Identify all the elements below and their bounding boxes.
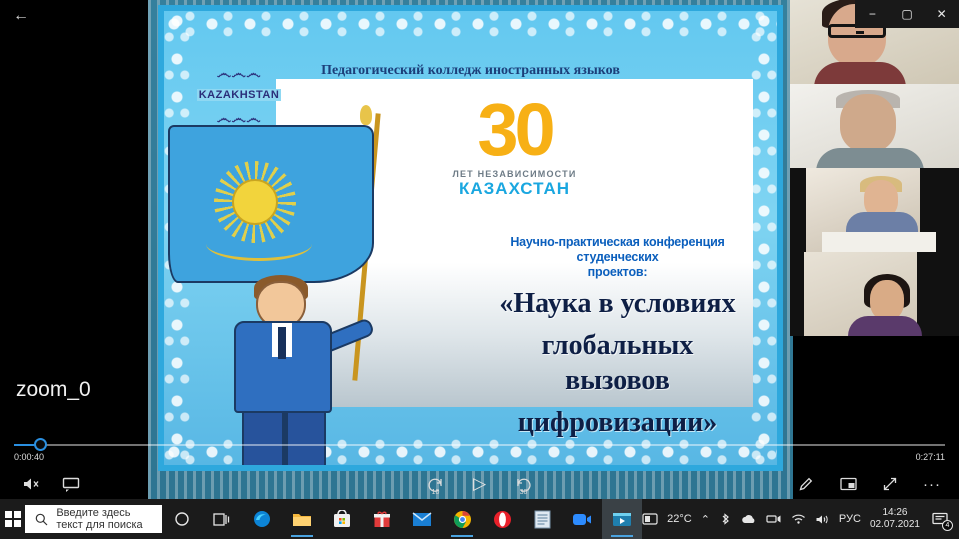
maximize-button[interactable]: ▢: [890, 0, 925, 28]
participant-2-face: [840, 94, 896, 152]
flag-sun: [232, 179, 278, 225]
participant-4-frame: [804, 252, 917, 336]
cortana-icon[interactable]: [162, 499, 202, 539]
forward-30-label: 30: [513, 489, 535, 496]
edge-icon[interactable]: [242, 499, 282, 539]
movies-tv-icon[interactable]: [602, 499, 642, 539]
participant-tile-2[interactable]: [790, 84, 959, 168]
participant-tile-3[interactable]: [790, 168, 959, 252]
temperature-label: 22°C: [667, 513, 692, 525]
conference-title-line-3: цифровизации»: [490, 406, 745, 440]
flag-pole-tip: [360, 105, 372, 125]
institution-heading: Педагогический колледж иностранных языко…: [164, 63, 777, 79]
rewind-10-label: 10: [425, 489, 447, 496]
bluetooth-icon[interactable]: [719, 512, 732, 526]
participant-3-frame: [806, 168, 920, 252]
mini-player-icon[interactable]: [837, 473, 859, 495]
more-options-button[interactable]: ···: [921, 473, 943, 495]
video-player-window: ← ෴෴෴ KAZAKHSTAN ෴෴෴ Педагогический колл…: [0, 0, 959, 539]
badge-label: KAZAKHSTAN: [197, 89, 282, 101]
seek-bar[interactable]: [0, 443, 959, 447]
word-document-icon[interactable]: [522, 499, 562, 539]
seek-track[interactable]: [14, 444, 945, 446]
system-tray: 22°C ⌃ РУС 14:26 02.07.2021: [642, 507, 959, 531]
gift-icon[interactable]: [362, 499, 402, 539]
taskbar-app-icons: [162, 499, 642, 539]
participant-tile-4[interactable]: [790, 252, 959, 336]
participant-1-body: [814, 62, 906, 84]
search-icon: [35, 513, 48, 526]
volume-icon[interactable]: [815, 513, 830, 526]
clock-date: 02.07.2021: [870, 519, 920, 531]
notification-badge: 4: [942, 520, 953, 531]
conference-title-line-1: «Наука в условиях: [490, 287, 745, 321]
weather-icon[interactable]: [642, 512, 658, 526]
flag-illustration: [168, 113, 398, 413]
logo-line-1: ЛЕТ НЕЗАВИСИМОСТИ: [425, 169, 605, 179]
language-indicator[interactable]: РУС: [839, 513, 861, 525]
search-placeholder: Введите здесь текст для поиска: [56, 507, 152, 531]
conference-title-block: Научно-практическая конференция студенче…: [490, 235, 745, 440]
close-button[interactable]: ✕: [924, 0, 959, 28]
forward-30-icon[interactable]: 30: [513, 473, 535, 495]
chrome-icon[interactable]: [442, 499, 482, 539]
fullscreen-icon[interactable]: [879, 473, 901, 495]
pencil-edit-icon[interactable]: [795, 473, 817, 495]
start-button[interactable]: [0, 499, 25, 539]
minimize-button[interactable]: −: [855, 0, 890, 28]
windows-logo-icon: [5, 511, 21, 527]
play-button[interactable]: ▷: [469, 473, 491, 495]
window-controls: − ▢ ✕: [855, 0, 959, 28]
microsoft-store-icon[interactable]: [322, 499, 362, 539]
clock-time: 14:26: [870, 507, 920, 519]
search-input[interactable]: Введите здесь текст для поиска: [25, 505, 162, 533]
notification-center-icon[interactable]: 4: [929, 508, 951, 530]
windows-taskbar: Введите здесь текст для поиска: [0, 499, 959, 539]
participant-4-face: [870, 280, 904, 320]
participant-4-body: [848, 316, 922, 336]
presentation-slide: ෴෴෴ KAZAKHSTAN ෴෴෴ Педагогический коллед…: [148, 0, 793, 499]
cloud-onedrive-icon[interactable]: [741, 514, 757, 525]
slide-content: ෴෴෴ KAZAKHSTAN ෴෴෴ Педагогический коллед…: [158, 5, 783, 471]
independence-logo: 30 ЛЕТ НЕЗАВИСИМОСТИ КАЗАХСТАН: [425, 95, 605, 199]
player-video-area[interactable]: ← ෴෴෴ KAZAKHSTAN ෴෴෴ Педагогический колл…: [0, 0, 959, 499]
player-controls-right: ···: [795, 470, 943, 498]
participant-video-strip: [790, 0, 959, 340]
closed-captions-icon[interactable]: [60, 473, 82, 495]
slide-white-card: 30 ЛЕТ НЕЗАВИСИМОСТИ КАЗАХСТАН: [276, 79, 753, 407]
conference-subtitle-line-1: Научно-практическая конференция студенче…: [490, 235, 745, 265]
conference-title-line-2: глобальных вызовов: [490, 329, 745, 397]
video-title: zoom_0: [16, 378, 91, 402]
back-button[interactable]: ←: [8, 4, 34, 28]
seek-handle[interactable]: [34, 438, 47, 451]
task-view-icon[interactable]: [202, 499, 242, 539]
mail-icon[interactable]: [402, 499, 442, 539]
logo-number: 30: [425, 95, 605, 165]
zoom-icon[interactable]: [562, 499, 602, 539]
flag-eagle: [206, 227, 312, 261]
opera-icon[interactable]: [482, 499, 522, 539]
player-controls-center: 10 ▷ 30: [425, 470, 535, 498]
kazakhstan-flag: [168, 125, 374, 283]
volume-muted-icon[interactable]: [20, 473, 42, 495]
ornament-right: [751, 11, 777, 465]
conference-subtitle-line-2: проектов:: [490, 265, 745, 280]
chevron-up-icon[interactable]: ⌃: [701, 513, 710, 526]
boy-tie: [278, 327, 286, 359]
boy-trousers: [242, 411, 326, 471]
participant-2-body: [816, 148, 924, 168]
logo-line-2: КАЗАХСТАН: [425, 179, 605, 199]
player-controls-left: [20, 470, 82, 498]
clock[interactable]: 14:26 02.07.2021: [870, 507, 920, 531]
total-time: 0:27:11: [916, 452, 945, 462]
participant-3-desk: [822, 232, 936, 252]
ornament-top: [164, 11, 777, 37]
network-adapter-icon[interactable]: [766, 513, 782, 525]
wifi-icon[interactable]: [791, 513, 806, 525]
file-explorer-icon[interactable]: [282, 499, 322, 539]
current-time: 0:00:40: [14, 452, 44, 462]
rewind-10-icon[interactable]: 10: [425, 473, 447, 495]
